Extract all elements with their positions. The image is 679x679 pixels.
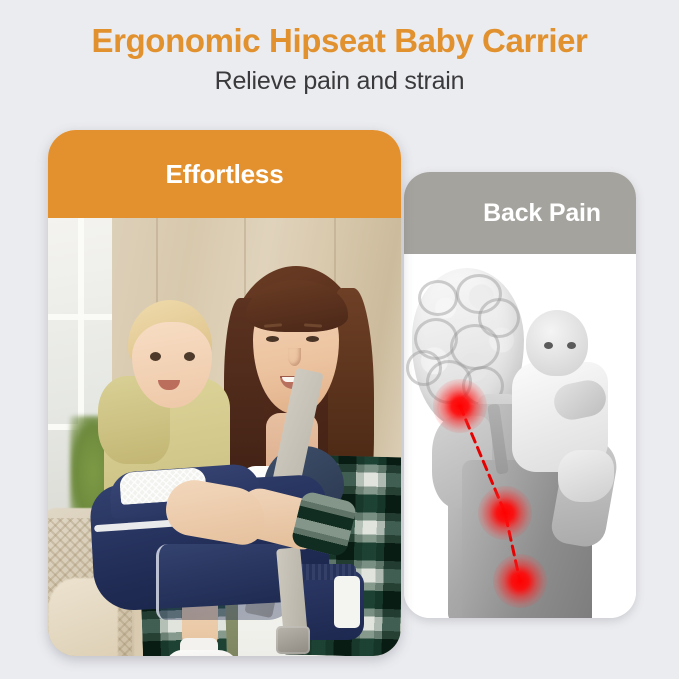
woman-nose	[288, 348, 301, 366]
back-pain-illustration	[404, 254, 636, 618]
hair-curl	[418, 280, 458, 316]
back-pain-card-label: Back Pain	[439, 199, 601, 228]
back-pain-card-header: Back Pain	[404, 172, 636, 254]
baby-leg	[558, 450, 614, 502]
carrier-white-patch	[334, 576, 360, 628]
effortless-card-label: Effortless	[166, 159, 284, 190]
hair-curl	[406, 350, 442, 386]
comparison-cards: Back Pain	[0, 0, 679, 679]
toddler-eye	[150, 352, 161, 361]
toddler-eye	[184, 352, 195, 361]
effortless-card: Effortless	[48, 130, 401, 656]
back-pain-card: Back Pain	[404, 172, 636, 618]
baby-head	[526, 310, 588, 376]
baby-eye	[544, 342, 553, 349]
effortless-photo	[48, 218, 401, 656]
woman-eye	[306, 336, 319, 342]
effortless-card-header: Effortless	[48, 130, 401, 218]
hair-curl	[478, 298, 520, 338]
carrier-buckle	[276, 626, 310, 654]
back-pain-photo	[404, 254, 636, 618]
baby-eye	[567, 342, 576, 349]
woman-eye	[266, 336, 279, 342]
